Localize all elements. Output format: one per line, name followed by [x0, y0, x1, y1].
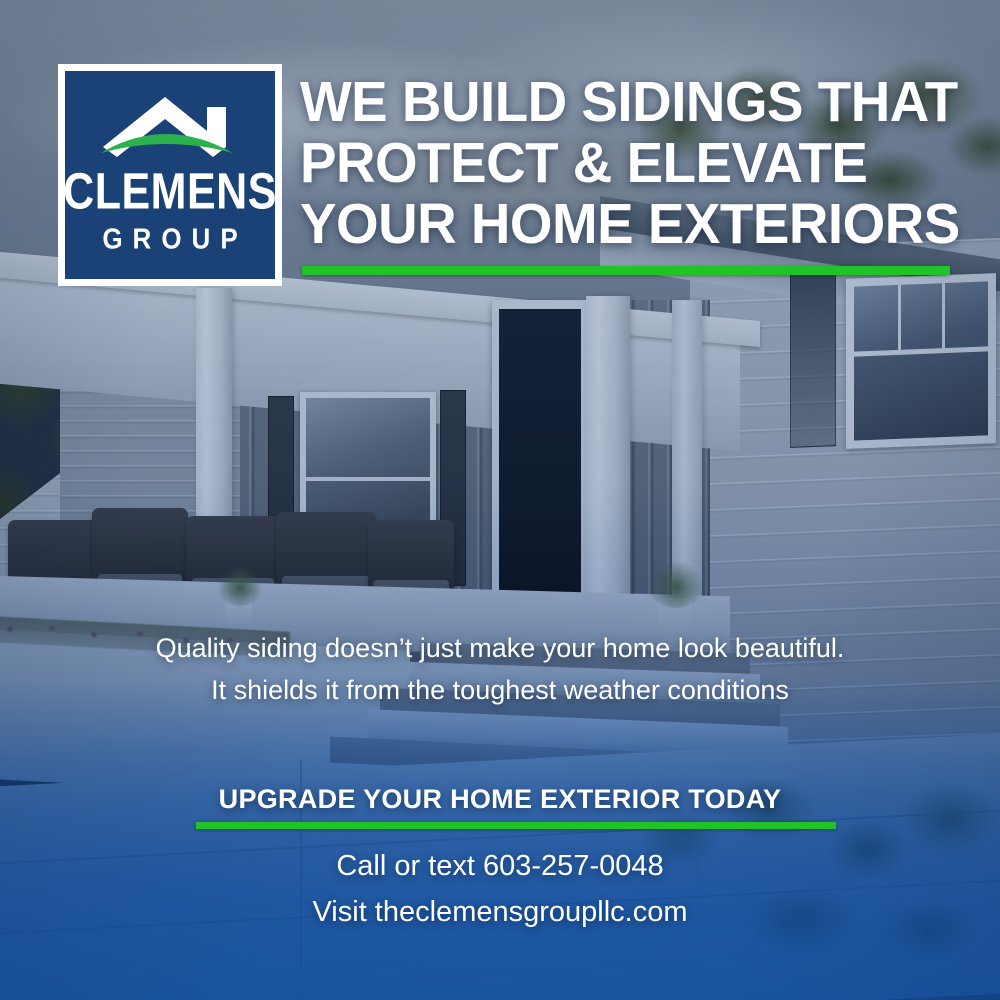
contact-block: Call or text 603-257-0048 Visit thecleme… [0, 843, 1000, 936]
roof-peak-logo-icon [95, 91, 245, 165]
subtext-line-1: Quality siding doesn’t just make your ho… [0, 628, 1000, 670]
clemens-group-logo[interactable]: CLEMENS GROUP [58, 64, 282, 286]
headline-line-2: PROTECT & ELEVATE [300, 133, 934, 194]
siding-promo-poster: CLEMENS GROUP WE BUILD SIDINGS THAT PROT… [0, 0, 1000, 1000]
headline-line-3: YOUR HOME EXTERIORS [300, 194, 934, 255]
logo-wordmark-secondary: GROUP [92, 224, 247, 253]
logo-wordmark-primary: CLEMENS [63, 167, 277, 218]
cta-heading: UPGRADE YOUR HOME EXTERIOR TODAY [0, 784, 1000, 815]
website-line[interactable]: Visit theclemensgroupllc.com [0, 889, 1000, 935]
phone-line[interactable]: Call or text 603-257-0048 [0, 843, 1000, 889]
green-divider-bottom [196, 822, 836, 829]
green-divider-top [302, 266, 950, 275]
subtext-line-2: It shields it from the toughest weather … [0, 670, 1000, 712]
headline: WE BUILD SIDINGS THAT PROTECT & ELEVATE … [300, 72, 934, 255]
headline-line-1: WE BUILD SIDINGS THAT [300, 72, 934, 133]
subtext: Quality siding doesn’t just make your ho… [0, 628, 1000, 712]
